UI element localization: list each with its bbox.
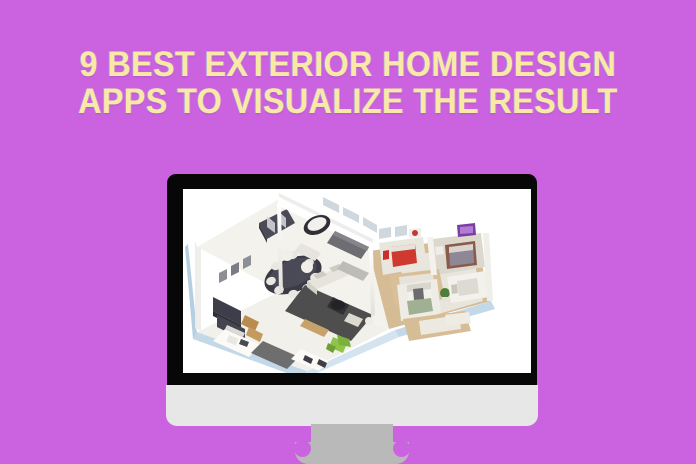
stand-fillet-right	[393, 440, 410, 457]
monitor-bezel	[167, 174, 537, 386]
poster-canvas: 9 BEST EXTERIOR HOME DESIGN APPS TO VISU…	[0, 0, 696, 464]
monitor-chin	[166, 385, 538, 426]
page-title-line-1: 9 BEST EXTERIOR HOME DESIGN	[28, 48, 668, 82]
floor-lamp	[365, 317, 373, 325]
stool-2	[301, 261, 313, 273]
page-title-line-2: APPS TO VISUALIZE THE RESULT	[28, 85, 668, 119]
desktop-monitor-illustration	[166, 174, 538, 426]
monitor-screen	[183, 189, 531, 373]
monitor-stand-neck	[311, 424, 393, 464]
page-title: 9 BEST EXTERIOR HOME DESIGN APPS TO VISU…	[0, 48, 696, 120]
stool-1	[281, 249, 293, 261]
floor-plan-svg	[183, 189, 531, 373]
floor-plan-image	[183, 189, 531, 373]
stand-fillet-left	[294, 440, 311, 457]
